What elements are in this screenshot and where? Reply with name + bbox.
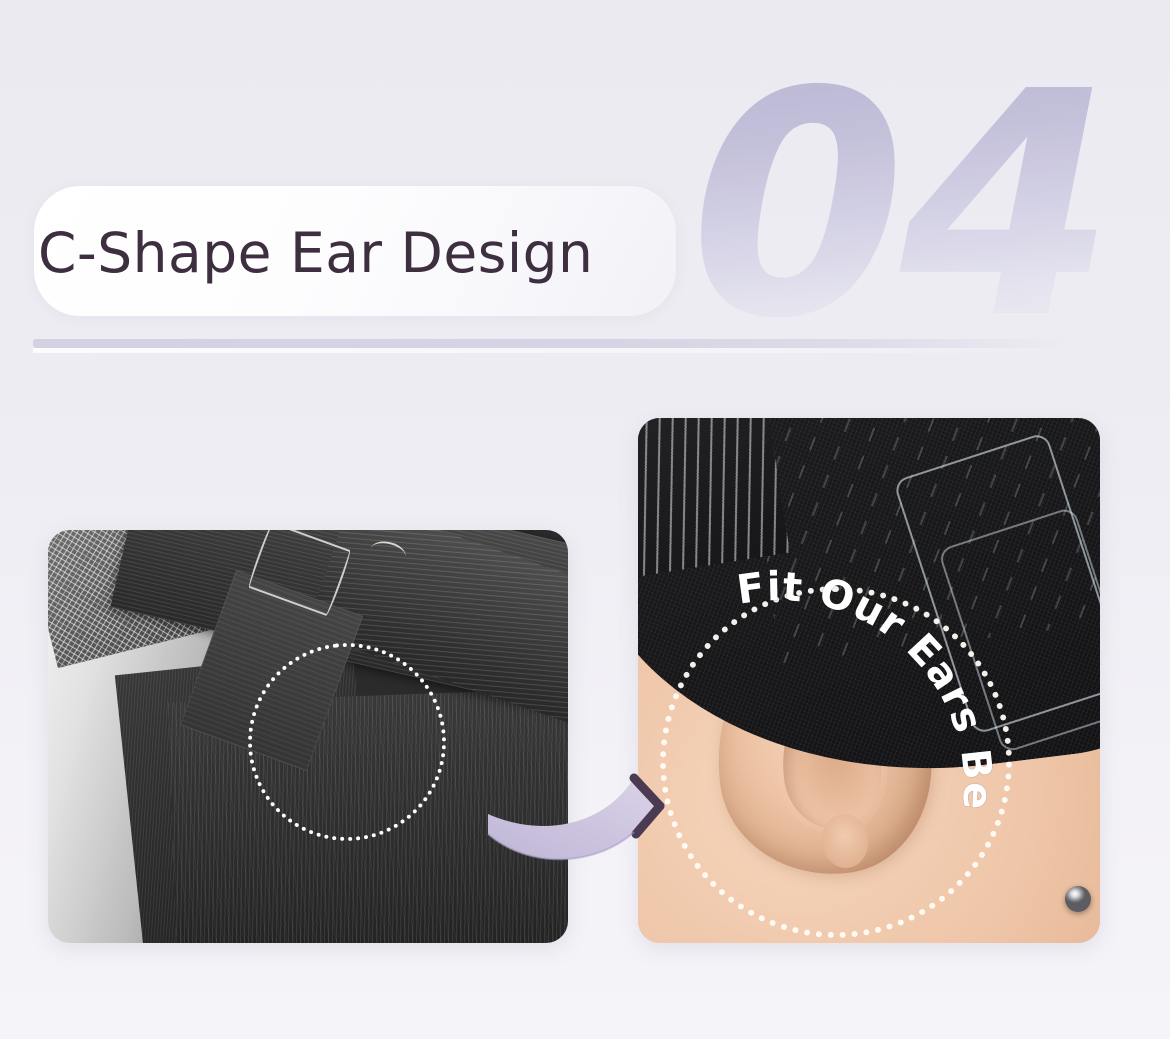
arrow-body: [488, 778, 660, 859]
curved-arrow: [484, 762, 684, 887]
page-title: C-Shape Ear Design: [38, 210, 658, 296]
fit-caption-text: Fit Our Ears Better: [710, 478, 1001, 812]
figure-card-right: Fit Our Ears Better: [638, 418, 1100, 943]
earring: [1065, 886, 1091, 912]
header-rule-bar: [33, 339, 1073, 348]
fit-caption-arc: Fit Our Ears Better: [724, 514, 1054, 844]
page-root: 04 C-Shape Ear Design: [0, 0, 1170, 1039]
header-rule-highlight: [33, 348, 1063, 353]
step-number-watermark: 04: [690, 52, 1109, 362]
ear-fit-photo: Fit Our Ears Better: [638, 418, 1100, 943]
